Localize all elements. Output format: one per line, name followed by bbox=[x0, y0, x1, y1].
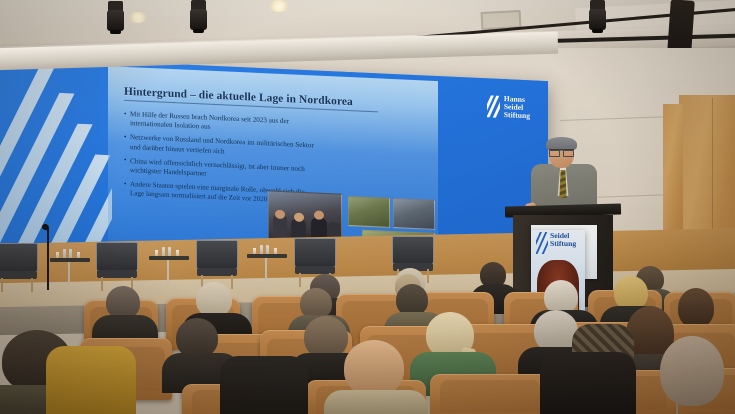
water-glass bbox=[274, 248, 277, 254]
stage-moving-light-1 bbox=[107, 1, 124, 35]
water-glass bbox=[56, 252, 59, 258]
water-glass bbox=[176, 250, 179, 256]
person-head bbox=[196, 282, 232, 317]
panel-side-table-2 bbox=[149, 256, 189, 284]
floor-microphone-stand bbox=[47, 228, 49, 290]
water-bottle bbox=[63, 249, 66, 258]
stage-moving-light-3 bbox=[589, 0, 606, 34]
water-glass bbox=[77, 252, 80, 258]
panel-chair-2 bbox=[96, 242, 138, 290]
banner-text: Seidel Stiftung bbox=[550, 232, 576, 248]
water-glass bbox=[253, 248, 256, 254]
downlight-3 bbox=[268, 0, 290, 12]
person-head bbox=[304, 316, 348, 358]
slide-logo-text: Hanns Seidel Stiftung bbox=[504, 95, 530, 120]
slide-hanns-seidel-logo: Hanns Seidel Stiftung bbox=[487, 94, 530, 119]
water-bottle bbox=[69, 249, 72, 258]
stage-moving-light-2 bbox=[190, 0, 207, 34]
person-head bbox=[678, 288, 714, 328]
water-glass bbox=[155, 250, 158, 256]
person-head bbox=[660, 336, 724, 406]
conference-hall-photo: Hintergrund – die aktuelle Lage in Nordk… bbox=[0, 0, 735, 414]
panel-chair-3 bbox=[196, 240, 238, 288]
slide-bullet-2: Netzwerke von Russland und Nordkorea im … bbox=[124, 133, 314, 160]
logo-line-3: Stiftung bbox=[504, 111, 530, 120]
person-shoulders bbox=[540, 352, 636, 414]
panel-side-table-1 bbox=[50, 258, 90, 286]
slide-photo-collage-top-right bbox=[393, 198, 435, 230]
banner-line-2: Stiftung bbox=[550, 240, 576, 248]
water-bottle bbox=[162, 247, 165, 256]
water-bottle bbox=[266, 245, 269, 254]
person-shoulders bbox=[220, 356, 308, 414]
hanns-seidel-diamond-icon bbox=[536, 232, 548, 254]
panel-chair-1 bbox=[0, 243, 38, 291]
person-head bbox=[614, 276, 648, 310]
audience-chair[interactable] bbox=[430, 374, 550, 414]
slide-bullet-3: China wird offensichtlich vernachlässigt… bbox=[124, 157, 314, 184]
downlight-1 bbox=[128, 12, 148, 23]
hanns-seidel-diamond-icon bbox=[487, 95, 500, 118]
eyeglasses-icon bbox=[549, 149, 574, 154]
person-shoulders bbox=[46, 346, 136, 414]
person-shoulders bbox=[324, 390, 428, 414]
water-bottle bbox=[168, 247, 171, 256]
panel-side-table-3 bbox=[247, 254, 287, 282]
water-bottle bbox=[260, 245, 263, 254]
person-head bbox=[176, 318, 218, 358]
slide-photo-collage-top-left bbox=[348, 196, 390, 228]
person-head bbox=[344, 340, 404, 396]
slide-decorative-diamond-graphic bbox=[0, 56, 112, 253]
person-head bbox=[544, 280, 578, 314]
